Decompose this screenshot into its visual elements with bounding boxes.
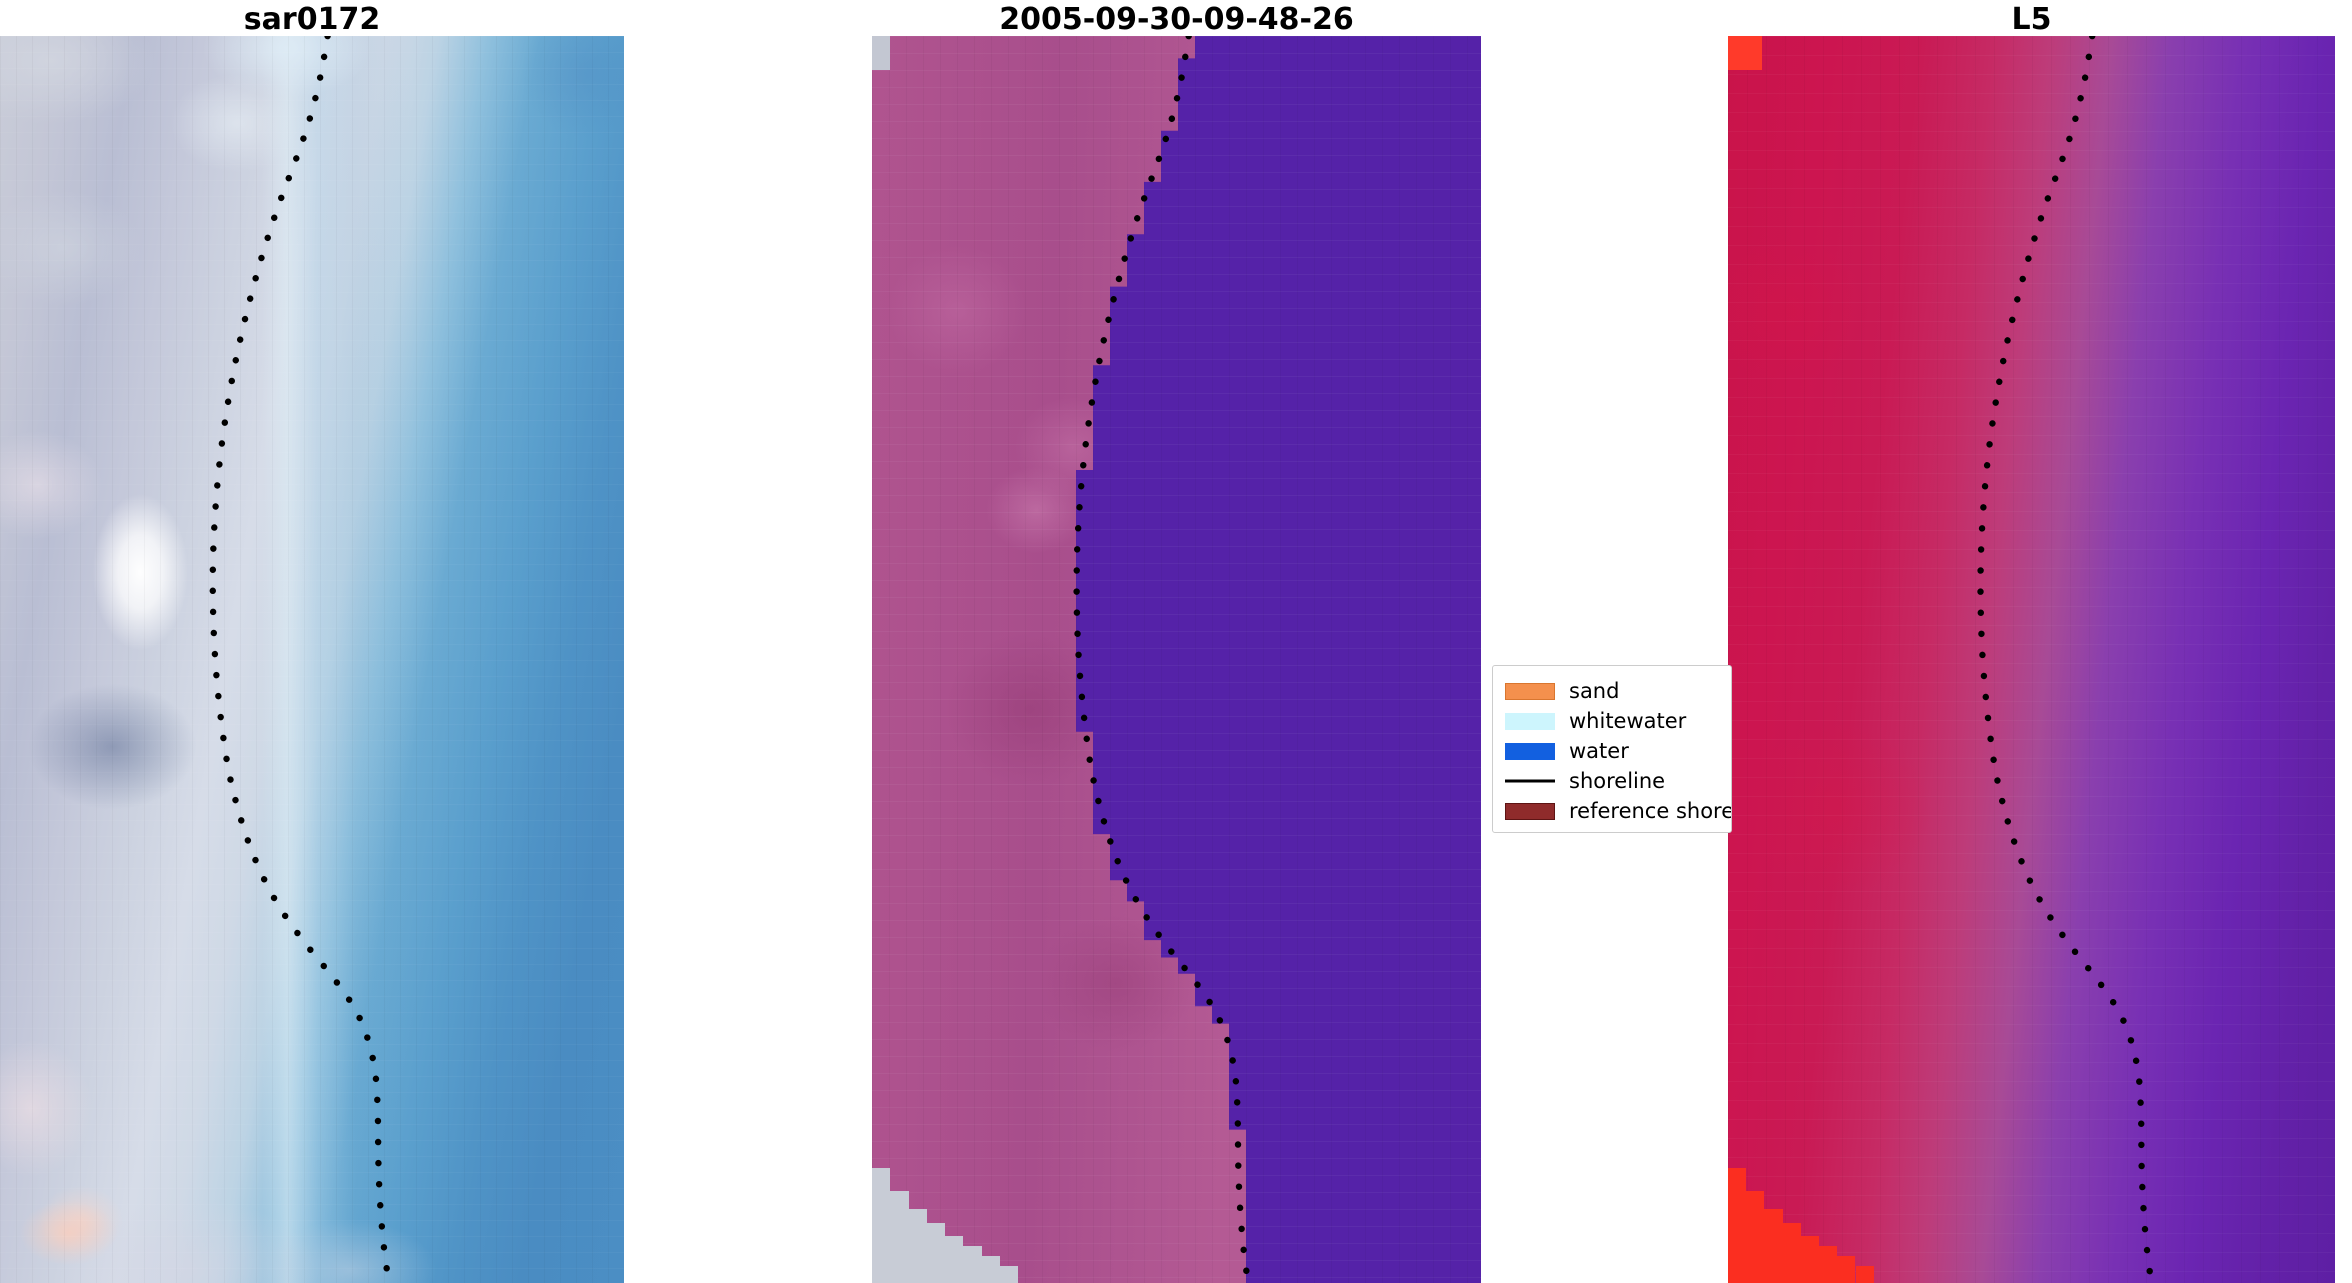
l5-staircase-wedge [1728, 36, 2335, 1283]
classified-staircase-wedge [872, 36, 1481, 1283]
staircase-step [945, 1236, 963, 1283]
legend-item-reference[interactable]: reference shoreli [1505, 796, 1731, 826]
sar-pixel-grid [0, 36, 624, 1283]
staircase-step [1746, 1191, 1764, 1283]
staircase-step [1764, 1209, 1782, 1283]
staircase-step [963, 1246, 981, 1283]
legend-item-sand[interactable]: sand [1505, 676, 1731, 706]
panel-title-classified: 2005-09-30-09-48-26 [872, 2, 1481, 38]
staircase-step [872, 1168, 890, 1283]
legend-label: whitewater [1569, 711, 1686, 732]
legend-swatch-icon [1505, 683, 1555, 700]
panel-title-l5: L5 [1728, 2, 2335, 38]
staircase-step [927, 1223, 945, 1283]
staircase-step [982, 1256, 1000, 1283]
figure-canvas: sar0172 2005-09-30-09-48-26 L5 sandwhite… [0, 0, 2352, 1283]
staircase-step [1856, 1266, 1874, 1283]
staircase-step [1783, 1223, 1801, 1283]
staircase-step [1000, 1266, 1018, 1283]
staircase-step [1728, 1168, 1746, 1283]
legend-label: water [1569, 741, 1629, 762]
legend-box[interactable]: sandwhitewaterwatershorelinereference sh… [1492, 665, 1732, 833]
staircase-step [1801, 1236, 1819, 1283]
legend-item-whitewater[interactable]: whitewater [1505, 706, 1731, 736]
panel-sar-image[interactable] [0, 36, 624, 1283]
legend-swatch-icon [1505, 713, 1555, 730]
staircase-step [909, 1209, 927, 1283]
staircase-step [1819, 1246, 1837, 1283]
staircase-step [890, 1191, 908, 1283]
legend-swatch-icon [1505, 803, 1555, 820]
panel-classified-image[interactable] [872, 36, 1481, 1283]
legend-swatch-icon [1505, 743, 1555, 760]
legend-label: reference shoreli [1569, 801, 1732, 822]
panel-l5-image[interactable] [1728, 36, 2335, 1283]
legend-line-icon [1505, 773, 1555, 790]
panel-title-sar: sar0172 [0, 2, 624, 38]
staircase-step [1837, 1256, 1855, 1283]
legend-label: sand [1569, 681, 1619, 702]
legend-item-shoreline[interactable]: shoreline [1505, 766, 1731, 796]
legend-label: shoreline [1569, 771, 1665, 792]
legend-item-water[interactable]: water [1505, 736, 1731, 766]
